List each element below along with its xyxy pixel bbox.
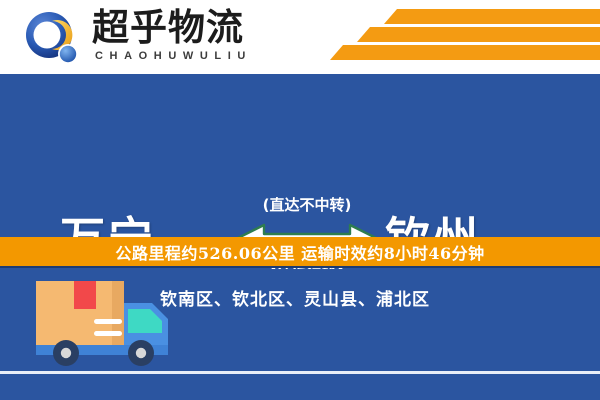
route-info-text: 公路里程约526.06公里 运输时效约8小时46分钟 [115,240,484,264]
brand-name-cn: 超乎物流 [92,6,244,50]
stripe-2 [357,27,600,42]
coverage-area: 钦南区、钦北区、灵山县、浦北区 [0,269,600,400]
route-band: 万宁 (直达不中转) 【往返运输】 钦州 [0,74,600,237]
route-info-bar: 公路里程约526.06公里 运输时效约8小时46分钟 [0,237,600,268]
route-note-direct: (直达不中转) [247,194,367,215]
stripe-3 [330,45,600,60]
stripe-1 [384,9,600,24]
circle-crescent-logo-icon [24,11,82,69]
logistics-route-poster: 超乎物流 CHAOHUWULIU 万宁 (直达不中转) 【往返运输】 钦州 公路… [0,0,600,400]
brand-name-en: CHAOHUWULIU [95,50,252,62]
coverage-districts: 钦南区、钦北区、灵山县、浦北区 [160,285,430,310]
road-line-decoration [0,371,600,374]
poster-header: 超乎物流 CHAOHUWULIU [0,0,600,74]
delivery-truck-icon [22,275,182,373]
header-stripes-decoration [320,6,600,68]
